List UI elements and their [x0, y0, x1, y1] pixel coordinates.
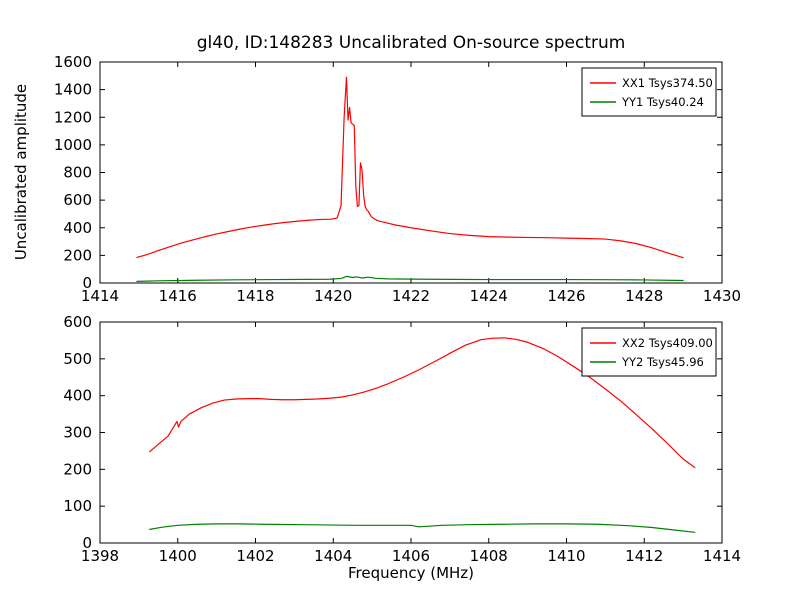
y-tick-label: 0 [82, 534, 92, 552]
y-tick-label: 400 [63, 387, 92, 405]
page-title: gl40, ID:148283 Uncalibrated On-source s… [197, 33, 626, 53]
y-tick-label: 400 [63, 219, 92, 237]
x-tick-label: 1428 [625, 287, 663, 305]
y-tick-label: 600 [63, 313, 92, 331]
bottom-legend[interactable]: XX2 Tsys409.00YY2 Tsys45.96 [582, 328, 716, 376]
y-tick-label: 300 [63, 424, 92, 442]
x-tick-label: 1410 [547, 547, 585, 565]
x-tick-label: 1422 [392, 287, 430, 305]
y-tick-label: 1400 [54, 81, 92, 99]
x-tick-label: 1404 [314, 547, 352, 565]
y-tick-label: 800 [63, 164, 92, 182]
y-tick-label: 1200 [54, 108, 92, 126]
y-tick-label: 200 [63, 246, 92, 264]
top-legend[interactable]: XX1 Tsys374.50YY1 Tsys40.24 [582, 68, 716, 116]
legend-entry-label[interactable]: XX1 Tsys374.50 [622, 76, 713, 90]
y-tick-label: 0 [82, 274, 92, 292]
x-tick-label: 1402 [236, 547, 274, 565]
y-tick-label: 1600 [54, 53, 92, 71]
y-axis-label: Uncalibrated amplitude [12, 84, 30, 260]
x-tick-label: 1430 [703, 287, 741, 305]
y-tick-label: 600 [63, 191, 92, 209]
y-tick-label: 100 [63, 497, 92, 515]
x-tick-label: 1400 [159, 547, 197, 565]
x-tick-label: 1418 [236, 287, 274, 305]
x-tick-label: 1416 [159, 287, 197, 305]
x-tick-label: 1426 [547, 287, 585, 305]
spectrum-figure: gl40, ID:148283 Uncalibrated On-source s… [0, 0, 800, 600]
x-tick-label: 1420 [314, 287, 352, 305]
x-tick-label: 1406 [392, 547, 430, 565]
x-tick-label: 1414 [703, 547, 741, 565]
legend-entry-label[interactable]: YY1 Tsys40.24 [621, 95, 704, 109]
y-tick-label: 500 [63, 350, 92, 368]
x-tick-label: 1408 [470, 547, 508, 565]
x-tick-label: 1424 [470, 287, 508, 305]
figure-canvas: gl40, ID:148283 Uncalibrated On-source s… [0, 0, 800, 600]
legend-entry-label[interactable]: XX2 Tsys409.00 [622, 336, 713, 350]
y-tick-label: 200 [63, 460, 92, 478]
x-axis-label: Frequency (MHz) [348, 564, 474, 582]
x-tick-label: 1412 [625, 547, 663, 565]
legend-entry-label[interactable]: YY2 Tsys45.96 [621, 355, 704, 369]
y-tick-label: 1000 [54, 136, 92, 154]
